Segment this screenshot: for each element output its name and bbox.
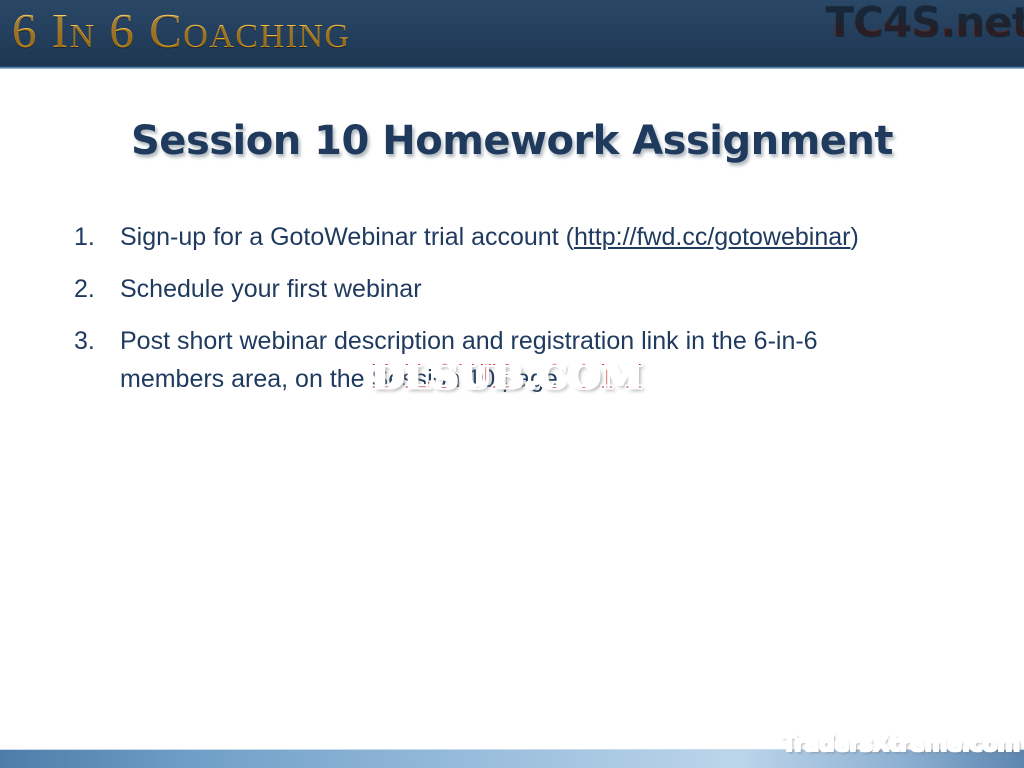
- list-item: 1. Sign-up for a GotoWebinar trial accou…: [74, 218, 974, 256]
- list-item-number: 1.: [74, 218, 120, 256]
- slide-canvas: 6 In 6 Coaching TC4S.net Session 10 Home…: [0, 0, 1024, 768]
- list-item-text: Sign-up for a GotoWebinar trial account …: [120, 218, 974, 256]
- header-divider: [0, 66, 1024, 69]
- list-item: 2. Schedule your first webinar: [74, 270, 974, 308]
- list-item-text: Schedule your first webinar: [120, 270, 974, 308]
- page-title: Session 10 Homework Assignment: [0, 118, 1024, 164]
- list-item-number: 2.: [74, 270, 120, 308]
- list-item-text-after-link: ): [850, 223, 858, 251]
- gotowebinar-link[interactable]: http://fwd.cc/gotowebinar: [574, 223, 851, 251]
- tc4s-site-logo: TC4S.net: [825, 1, 1024, 43]
- brand-title: 6 In 6 Coaching: [12, 6, 351, 55]
- list-item-number: 3.: [74, 322, 120, 360]
- header-banner: 6 In 6 Coaching TC4S.net: [0, 0, 1024, 66]
- list-item-line-1: Post short webinar description and regis…: [120, 327, 818, 355]
- list-item-text-before-link: Sign-up for a GotoWebinar trial account …: [120, 223, 574, 251]
- tradersxtreme-footer-logo: TradersXtreme.com: [782, 734, 1020, 756]
- dlsub-watermark: DLSUB.COM: [371, 357, 643, 397]
